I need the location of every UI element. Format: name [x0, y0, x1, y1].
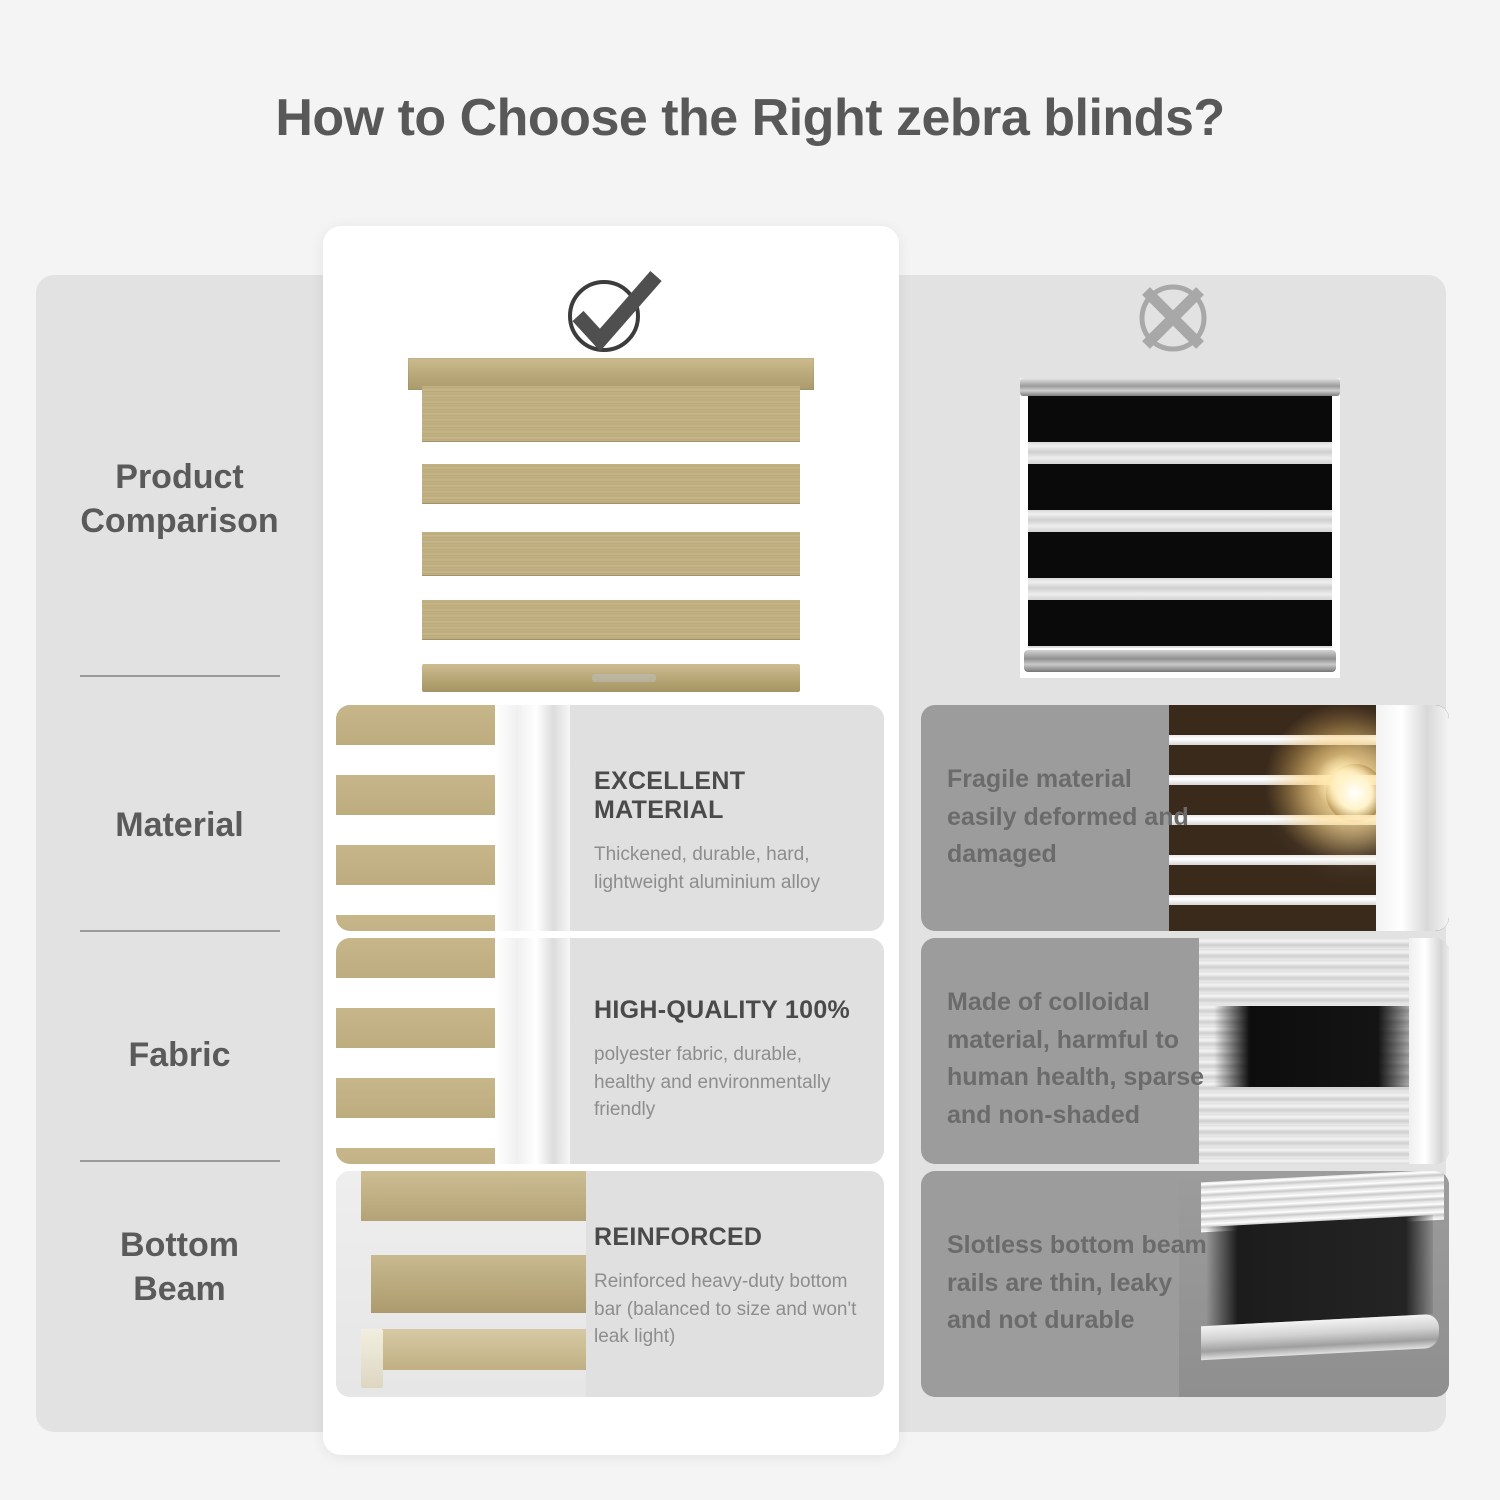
feature-title: REINFORCED — [594, 1223, 860, 1252]
bad-fabric-image — [1199, 938, 1449, 1164]
row-label-material: Material — [36, 803, 323, 847]
blind-slat — [422, 532, 800, 576]
bad-card-material: Fragile material easily deformed and dam… — [921, 705, 1449, 931]
bad-card-bottom-beam: Slotless bottom beam rails are thin, lea… — [921, 1171, 1449, 1397]
row-label-fabric: Fabric — [36, 1033, 323, 1077]
row-label-line2: Beam — [36, 1267, 323, 1311]
row-label-column: Product Comparison Material Fabric Botto… — [36, 275, 323, 1432]
sun-flare-icon — [1326, 764, 1384, 822]
bad-material-text: Fragile material easily deformed and dam… — [947, 705, 1197, 931]
feature-title: HIGH-QUALITY 100% — [594, 996, 860, 1025]
row-divider-3 — [80, 1160, 280, 1162]
blind-slat — [422, 386, 800, 442]
bad-feature-text: Slotless bottom beam rails are thin, lea… — [947, 1227, 1207, 1340]
bad-material-image — [1169, 705, 1449, 931]
bad-feature-text: Made of colloidal material, harmful to h… — [947, 984, 1217, 1134]
feature-title: EXCELLENT MATERIAL — [594, 767, 860, 825]
blind-bottom-bar — [422, 664, 800, 692]
good-card-bottom-beam: REINFORCED Reinforced heavy-duty bottom … — [336, 1171, 884, 1397]
blind-slat — [422, 600, 800, 640]
blind-zebra-body — [1028, 396, 1332, 648]
blind-pull-handle — [592, 674, 656, 682]
feature-desc: Thickened, durable, hard, lightweight al… — [594, 841, 860, 896]
good-material-image — [336, 705, 570, 931]
row-label-line2: Comparison — [36, 499, 323, 543]
good-bottom-beam-text: REINFORCED Reinforced heavy-duty bottom … — [594, 1171, 860, 1397]
row-label-line1: Bottom — [36, 1223, 323, 1267]
bad-card-fabric: Made of colloidal material, harmful to h… — [921, 938, 1449, 1164]
bad-feature-text: Fragile material easily deformed and dam… — [947, 761, 1197, 874]
bottom-bar-end-cap — [361, 1329, 383, 1388]
blind-slat — [422, 464, 800, 504]
good-bottom-beam-image — [336, 1171, 586, 1397]
row-label-line1: Product — [36, 455, 323, 499]
good-card-fabric: HIGH-QUALITY 100% polyester fabric, dura… — [336, 938, 884, 1164]
good-fabric-text: HIGH-QUALITY 100% polyester fabric, dura… — [594, 938, 860, 1164]
check-circle-icon — [556, 268, 666, 358]
good-fabric-image — [336, 938, 570, 1164]
row-label-product-comparison: Product Comparison — [36, 455, 323, 543]
bad-bottom-beam-text: Slotless bottom beam rails are thin, lea… — [947, 1171, 1207, 1397]
row-label-line1: Material — [36, 803, 323, 847]
bad-product-image — [1020, 378, 1340, 678]
bad-bottom-beam-image — [1179, 1171, 1449, 1397]
blind-bottom-rail — [1024, 650, 1336, 672]
good-material-text: EXCELLENT MATERIAL Thickened, durable, h… — [594, 705, 860, 931]
feature-desc: polyester fabric, durable, healthy and e… — [594, 1041, 860, 1124]
blind-headrail — [1020, 378, 1340, 396]
row-label-line1: Fabric — [36, 1033, 323, 1077]
row-divider-2 — [80, 930, 280, 932]
row-label-bottom-beam: Bottom Beam — [36, 1223, 323, 1311]
bad-fabric-text: Made of colloidal material, harmful to h… — [947, 938, 1217, 1164]
good-card-material: EXCELLENT MATERIAL Thickened, durable, h… — [336, 705, 884, 931]
row-divider-1 — [80, 675, 280, 677]
infographic-root: How to Choose the Right zebra blinds? Pr… — [0, 0, 1500, 1500]
feature-desc: Reinforced heavy-duty bottom bar (balanc… — [594, 1268, 860, 1351]
page-title: How to Choose the Right zebra blinds? — [0, 88, 1500, 148]
x-circle-icon — [1128, 278, 1218, 358]
good-product-image — [408, 358, 814, 698]
